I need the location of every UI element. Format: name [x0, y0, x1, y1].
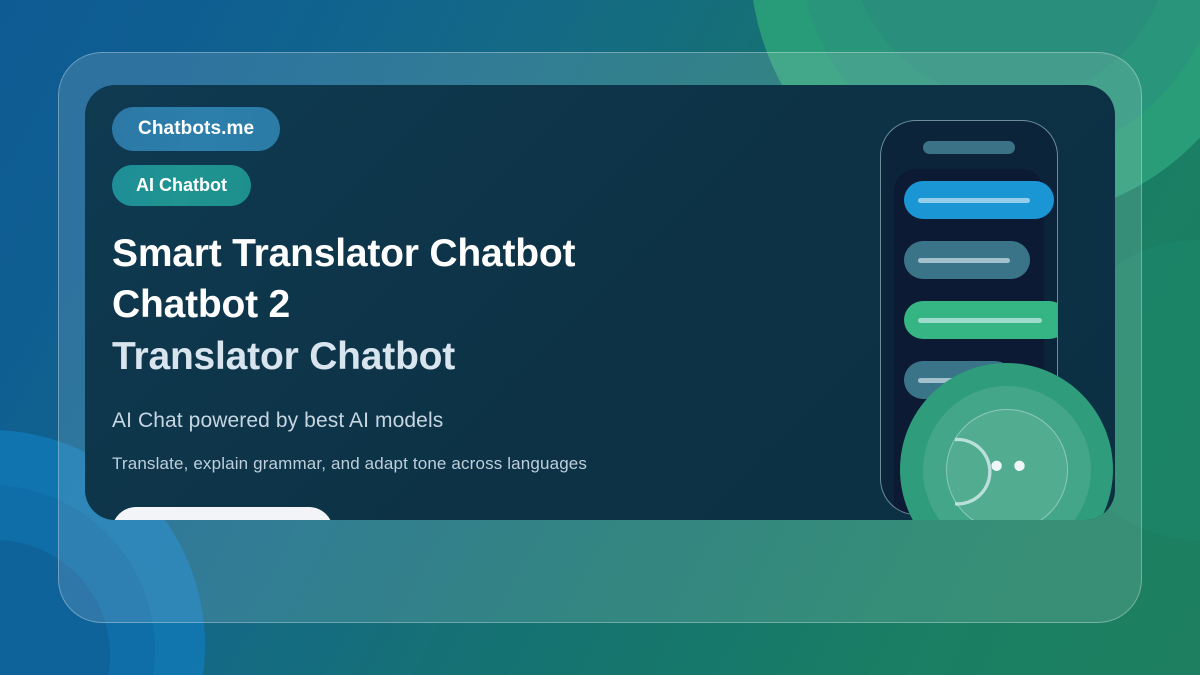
- chat-bubble-text-line: [918, 198, 1030, 203]
- smiley-face-icon: [955, 418, 1059, 521]
- description: Translate, explain grammar, and adapt to…: [112, 454, 752, 474]
- brand-badge[interactable]: Chatbots.me: [112, 107, 280, 151]
- language-ai-chat-button[interactable]: Language AI Chat: [112, 507, 333, 520]
- phone-notch: [923, 141, 1015, 154]
- chat-bubble-text-line: [918, 318, 1042, 323]
- category-badge[interactable]: AI Chatbot: [112, 165, 251, 206]
- hero-card: Chatbots.me AI Chatbot Smart Translator …: [85, 85, 1115, 520]
- subtitle: AI Chat powered by best AI models: [112, 409, 752, 433]
- chat-bubble-1: [904, 181, 1054, 219]
- hero-content: Chatbots.me AI Chatbot Smart Translator …: [112, 107, 752, 520]
- headline-line-3: Translator Chatbot: [112, 331, 752, 382]
- chat-bubble-text-line: [918, 258, 1010, 263]
- chat-illustration: [795, 120, 1085, 520]
- page-title: Smart Translator Chatbot Chatbot 2 Trans…: [112, 228, 752, 382]
- chat-bubble-2: [904, 241, 1030, 279]
- headline-line-1: Smart Translator Chatbot: [112, 228, 752, 279]
- hero-banner: Chatbots.me AI Chatbot Smart Translator …: [0, 0, 1200, 675]
- headline-line-2: Chatbot 2: [112, 279, 752, 330]
- chat-bubble-3: [904, 301, 1058, 339]
